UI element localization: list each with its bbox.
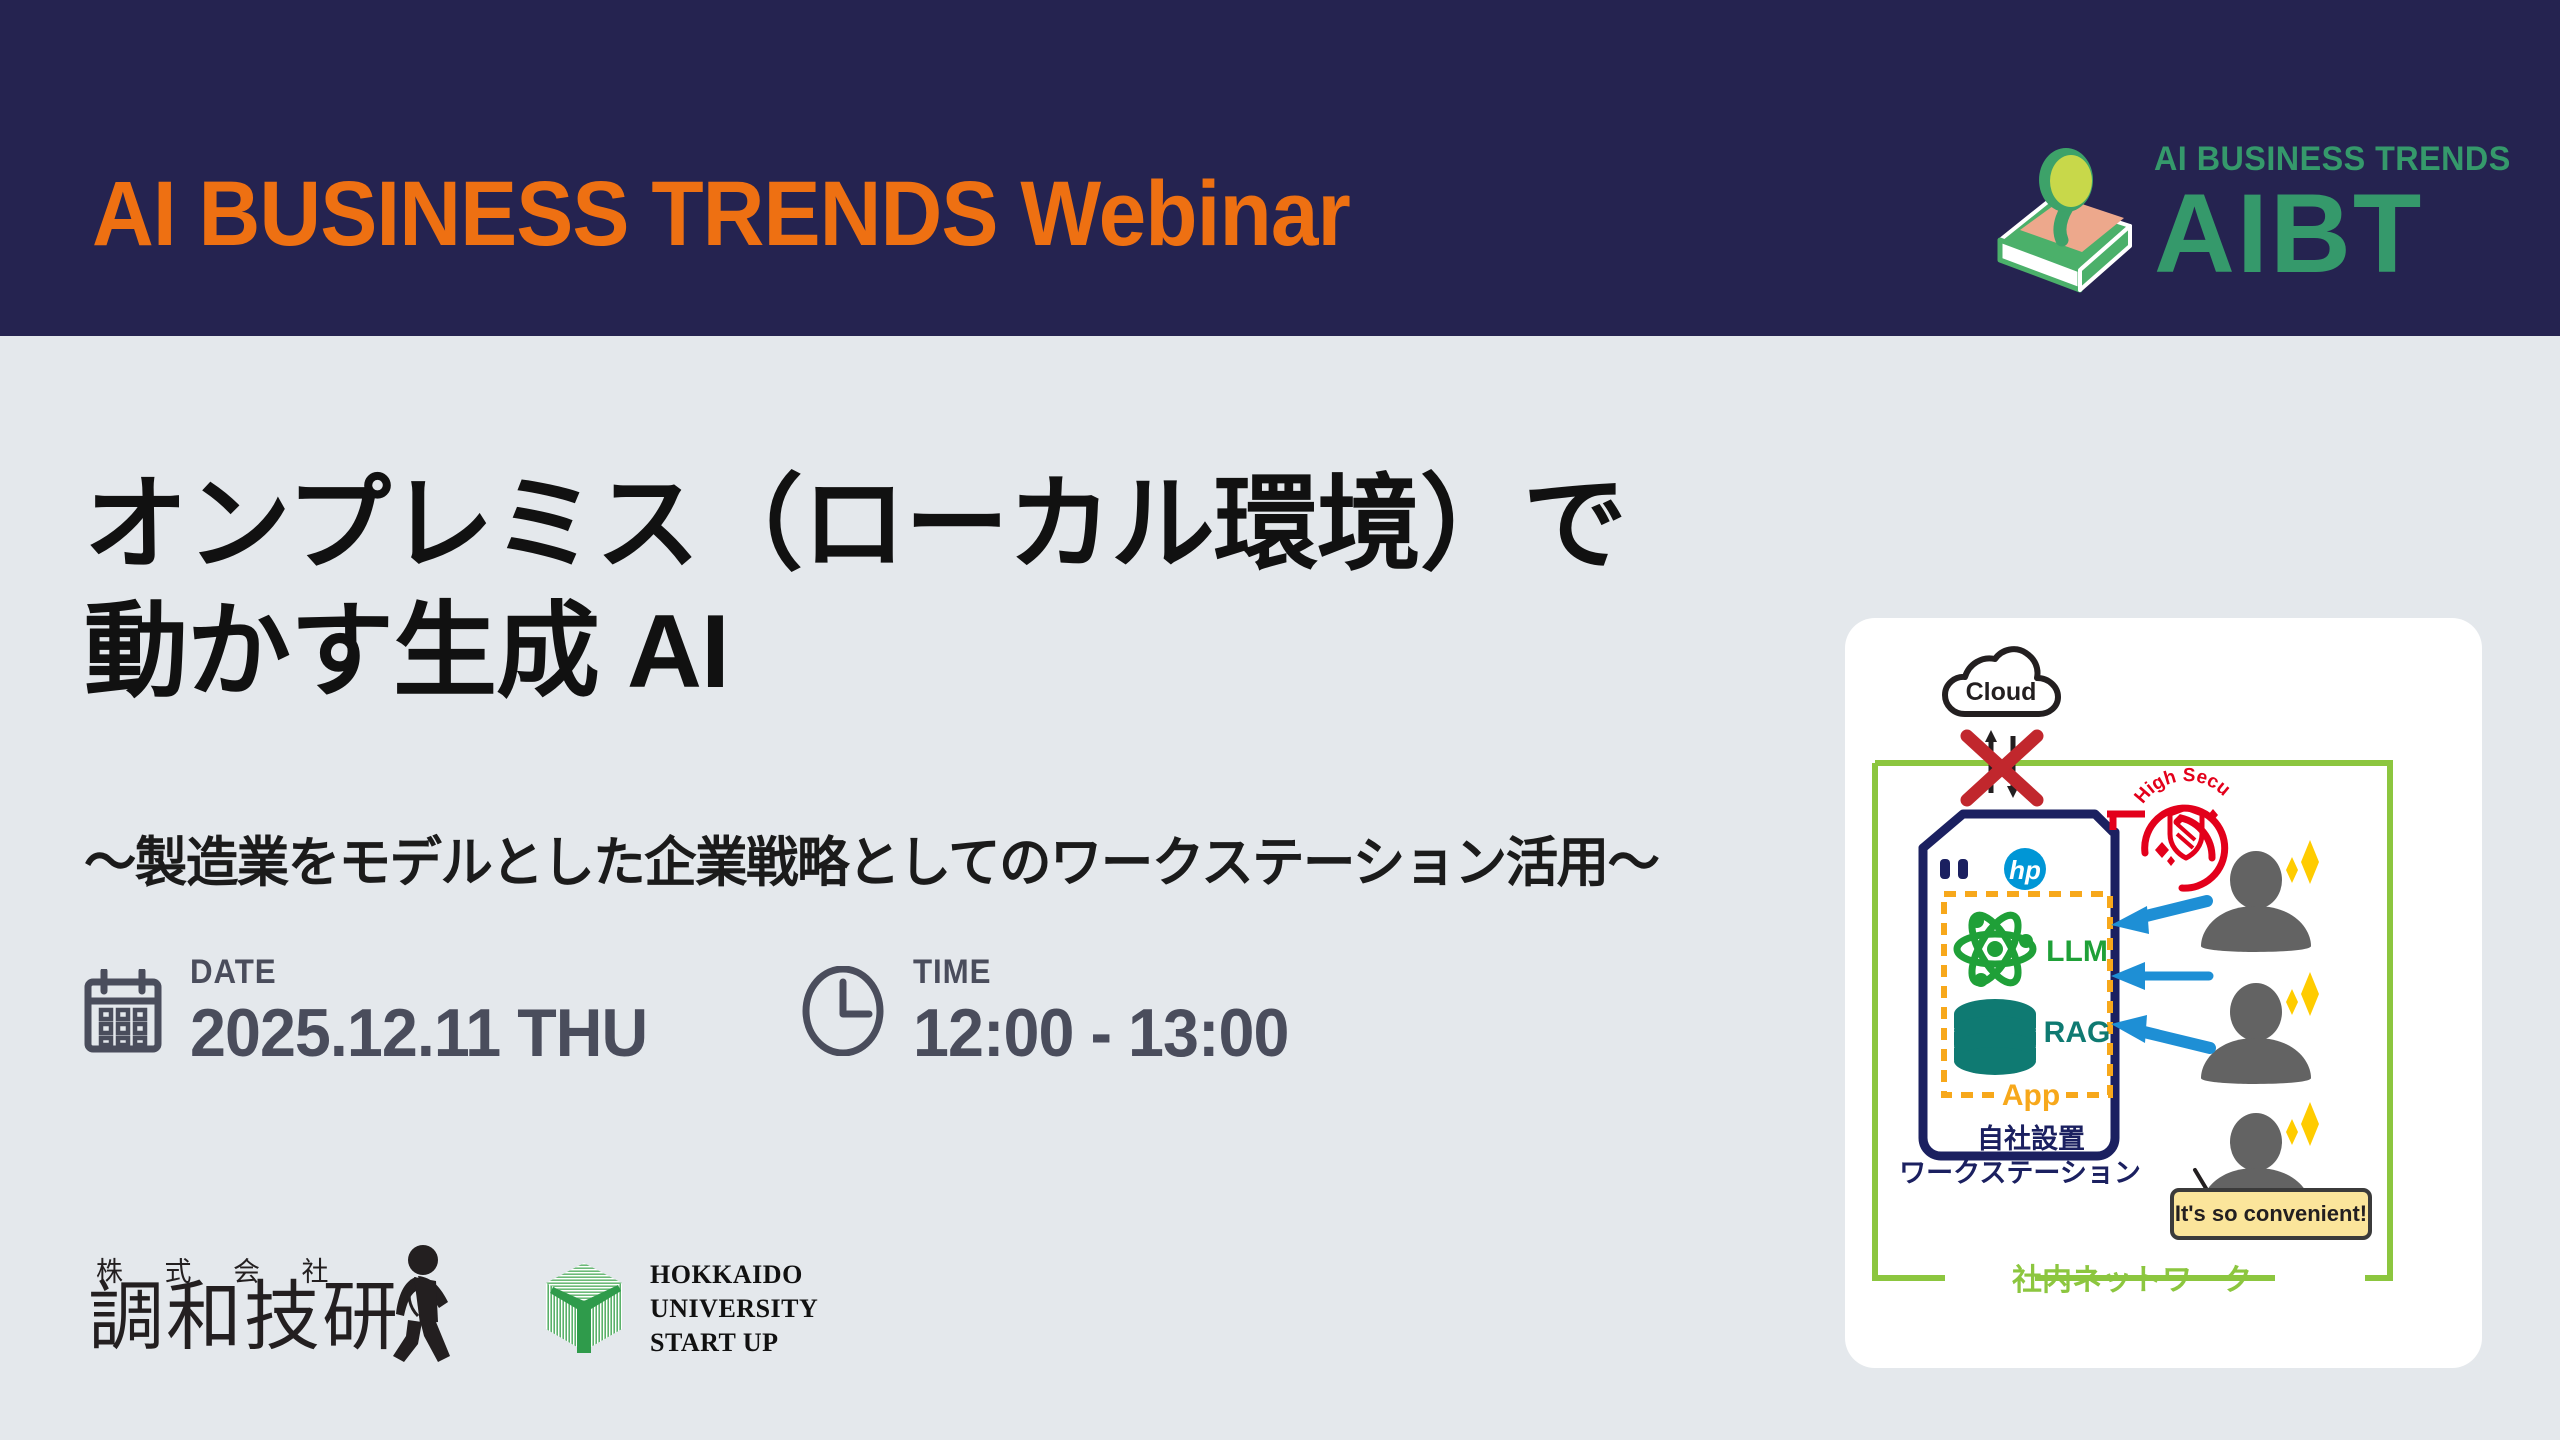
llm-atom-icon <box>1957 909 2033 990</box>
header-title: AI BUSINESS TRENDS Webinar <box>92 168 1350 260</box>
time-texts: TIME 12:00 - 13:00 <box>913 955 1308 1071</box>
hokudai-line1: HOKKAIDO <box>650 1258 818 1292</box>
magnifier-over-book-icon <box>1990 148 2140 293</box>
high-security-badge: High Security! <box>1845 618 2234 888</box>
aibt-logo: AI BUSINESS TRENDS AIBT <box>1990 142 2530 292</box>
chowa-giken-logo: 株 式 会 社 調和技研 <box>88 1250 498 1368</box>
webinar-title-line2: 動かす生成 AI <box>84 589 1824 716</box>
hp-logo-icon: hp <box>2004 848 2046 890</box>
date-label: DATE <box>190 955 633 989</box>
internal-network-label: 社内ネットワーク <box>2012 1264 2252 1297</box>
event-meta: DATE 2025.12.11 THU TIME 12:00 - 13:00 <box>84 955 1309 1071</box>
llm-label: LLM <box>2046 935 2108 968</box>
date-value: 2025.12.11 THU <box>190 995 647 1071</box>
time-value: 12:00 - 13:00 <box>913 995 1289 1071</box>
access-arrows <box>2111 901 2210 1048</box>
svg-text:hp: hp <box>2009 855 2041 885</box>
architecture-diagram-card: Cloud hp App <box>1845 618 2482 1368</box>
time-label: TIME <box>913 955 1277 989</box>
hokkaido-cube-icon <box>534 1257 634 1362</box>
workstation-label-line2: ワークステーション <box>1899 1158 2141 1188</box>
date-texts: DATE 2025.12.11 THU <box>190 955 671 1071</box>
walking-person-icon <box>366 1244 476 1366</box>
date-block: DATE 2025.12.11 THU <box>84 955 671 1071</box>
calendar-icon <box>84 969 162 1058</box>
page-header: AI BUSINESS TRENDS Webinar AI BUSINESS T… <box>0 0 2560 336</box>
chowa-name: 調和技研 <box>88 1280 400 1356</box>
access-arrow <box>2111 962 2209 990</box>
hokkaido-university-text: HOKKAIDO UNIVERSITY START UP <box>650 1258 818 1361</box>
aibt-acronym: AIBT <box>2154 180 2530 288</box>
hokudai-line2: UNIVERSITY <box>650 1292 818 1326</box>
rag-label: RAG <box>2044 1016 2111 1049</box>
webinar-title-line1: オンプレミス（ローカル環境）で <box>84 462 1824 589</box>
access-arrow <box>2111 1015 2210 1048</box>
user-group <box>2201 840 2319 1214</box>
app-label: App <box>2002 1079 2060 1112</box>
hokkaido-university-startup-logo: HOKKAIDO UNIVERSITY START UP <box>534 1257 818 1362</box>
speech-bubble-label: It's so convenient! <box>2175 1201 2367 1226</box>
architecture-diagram: Cloud hp App <box>1845 618 2482 1368</box>
workstation-label-line1: 自社設置 <box>1977 1123 2085 1154</box>
sparkle-icon <box>2286 840 2319 884</box>
webinar-title: オンプレミス（ローカル環境）で 動かす生成 AI <box>84 462 1824 716</box>
aibt-tagline: AI BUSINESS TRENDS <box>2154 142 2511 178</box>
cloud-label: Cloud <box>1966 678 2037 706</box>
sparkle-icon <box>2286 1102 2319 1146</box>
hokudai-line3: START UP <box>650 1326 818 1360</box>
time-block: TIME 12:00 - 13:00 <box>801 955 1308 1071</box>
sparkle-icon <box>2286 972 2319 1016</box>
aibt-logo-text: AI BUSINESS TRENDS AIBT <box>2154 142 2530 287</box>
clock-icon <box>801 966 885 1061</box>
footer-logos: 株 式 会 社 調和技研 <box>88 1250 818 1368</box>
rag-database-icon <box>1954 999 2036 1075</box>
webinar-subtitle: 〜製造業をモデルとした企業戦略としてのワークステーション活用〜 <box>84 818 1658 897</box>
access-arrow <box>2111 901 2207 934</box>
